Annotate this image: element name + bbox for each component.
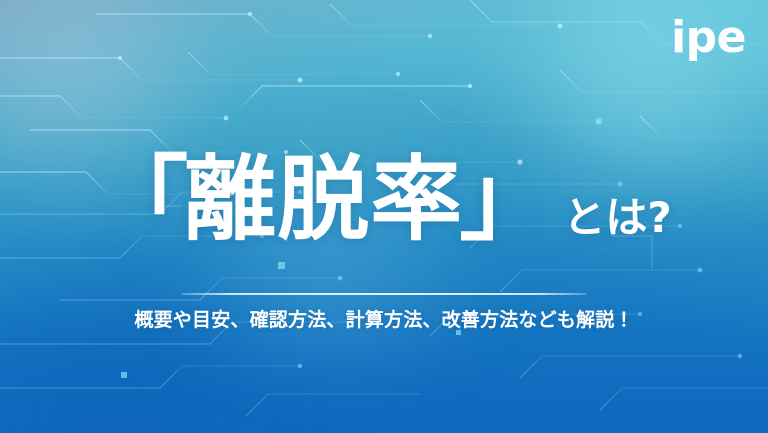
banner-hero: ipe 「 離脱率 」 とは? 概要や目安、確認方法、計算方法、改善方法なども解… (0, 0, 768, 433)
title-suffix: とは? (563, 197, 671, 247)
hero-content: 「 離脱率 」 とは? 概要や目安、確認方法、計算方法、改善方法なども解説！ (0, 132, 768, 351)
title-divider (182, 293, 586, 295)
title-keyword: 離脱率 (184, 153, 463, 247)
page-title: 「 離脱率 」 とは? (96, 153, 671, 247)
title-bracket-open: 「 (96, 153, 188, 247)
brand-logo-ipe[interactable]: ipe (671, 16, 746, 60)
page-subtitle: 概要や目安、確認方法、計算方法、改善方法なども解説！ (134, 305, 633, 332)
title-bracket-close: 」 (459, 153, 551, 247)
